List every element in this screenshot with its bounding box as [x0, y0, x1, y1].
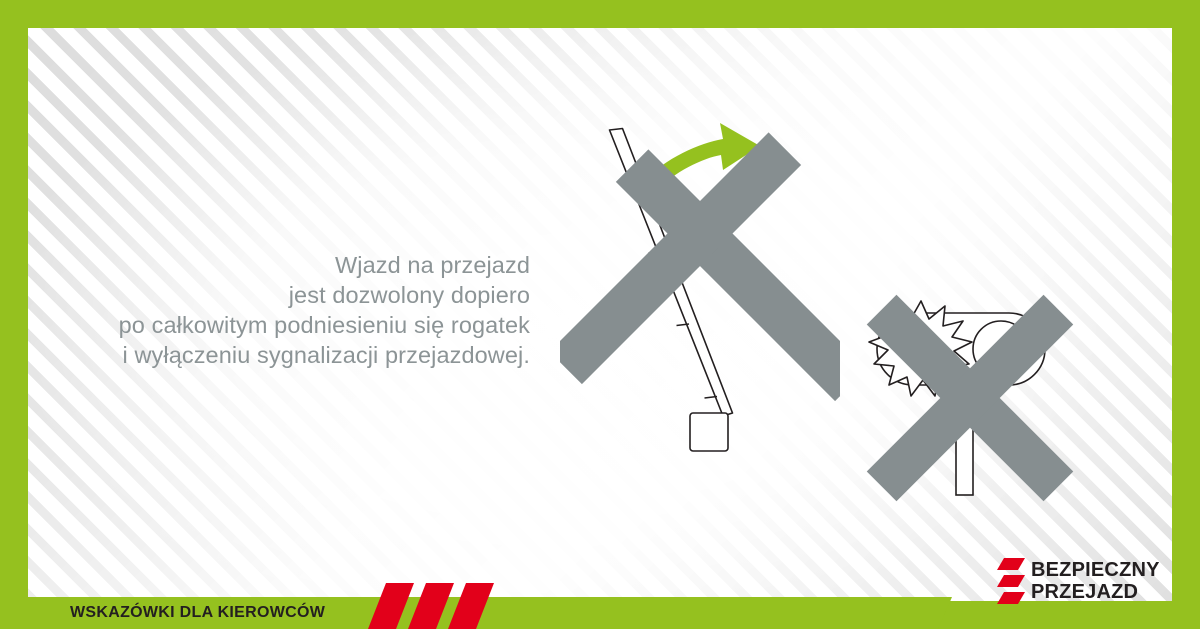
logo-text: BEZPIECZNY PRZEJAZD: [1031, 559, 1160, 603]
illustration-barrier: [560, 110, 840, 460]
bottom-bar-label: WSKAZÓWKI DLA KIEROWCÓW: [70, 600, 325, 626]
illustration-signal: [855, 285, 1085, 510]
poster-canvas: Wjazd na przejazd jest dozwolony dopiero…: [0, 0, 1200, 629]
red-stripes-decoration: [368, 583, 498, 629]
logo-red-bars-icon: [997, 558, 1025, 604]
cross-icon: [560, 132, 840, 401]
page-message: Wjazd na przejazd jest dozwolony dopiero…: [30, 250, 530, 370]
logo[interactable]: BEZPIECZNY PRZEJAZD: [997, 558, 1157, 606]
